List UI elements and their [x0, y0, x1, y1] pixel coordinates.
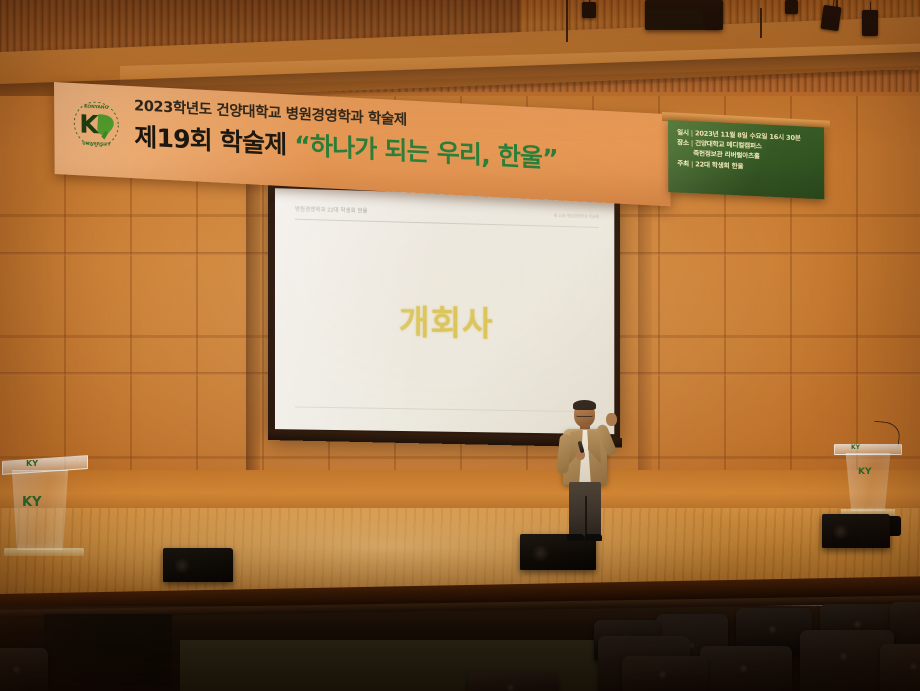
podium-left: KY KY — [2, 452, 94, 564]
audience-seat — [622, 656, 708, 691]
slide-header-right-text: 제 19회 병원경영학과 학술제 — [554, 213, 599, 220]
speaker-hair — [573, 400, 596, 410]
audience-seat — [468, 672, 558, 691]
speaker-glasses-icon — [576, 412, 593, 417]
info-sep: | — [691, 139, 693, 147]
svg-text:K: K — [79, 109, 100, 139]
event-info-banner: 일시|2023년 11월 8일 수요일 16시 30분 장소|건양대학교 메디컬… — [668, 120, 824, 199]
stage-back-wall-base — [0, 470, 920, 512]
banner-title-slogan: “하나가 되는 우리, 한울” — [294, 131, 558, 174]
info-label-date: 일시 — [677, 128, 689, 137]
slide-header-left-text: 병원경영학과 22대 학생회 한울 — [295, 205, 368, 215]
stage-monitor-speaker — [822, 514, 890, 548]
info-value-host: 22대 학생회 한울 — [695, 160, 743, 170]
audience-seat — [700, 646, 792, 691]
konyang-university-logo: KONYANG UNIVERSITY K — [68, 98, 124, 151]
monitor-driver — [173, 558, 191, 573]
podium-right-plate-logo: KY — [851, 445, 860, 451]
info-label-host: 주최 — [677, 159, 689, 168]
slide-divider-top — [295, 219, 599, 228]
av-equipment-case — [44, 614, 172, 686]
audience-seat — [0, 648, 48, 691]
banner-title-prefix: 제19회 학술제 — [134, 122, 294, 159]
stage-light-fixture — [706, 6, 720, 28]
podium-right-front-logo: KY — [858, 468, 872, 477]
speaker-leg-split — [585, 496, 587, 536]
info-sep: | — [691, 160, 693, 168]
stage-light-fixture — [862, 10, 878, 36]
podium-left-front-logo: KY — [22, 496, 42, 509]
auditorium-photo: 병원경영학과 22대 학생회 한울 제 19회 병원경영학과 학술제 개회사 K… — [0, 0, 920, 691]
wall-shadow-column — [246, 176, 260, 476]
speaker-shoe-left — [567, 534, 584, 541]
speaker-shoe-right — [585, 534, 602, 541]
stage-light-fixture — [785, 0, 798, 14]
speaker-hand-raised — [606, 413, 617, 426]
podium-left-base — [4, 548, 84, 556]
info-sep: | — [691, 129, 693, 137]
info-label-place: 장소 — [677, 139, 689, 148]
stage-light-fixture — [820, 5, 841, 31]
stage-monitor-speaker — [163, 548, 233, 582]
ceiling-cable — [566, 0, 568, 42]
podium-left-plate-logo: KY — [26, 460, 38, 468]
speaker-person — [545, 396, 645, 548]
audience-seat — [880, 644, 920, 691]
podium-left-body — [8, 470, 72, 550]
svg-text:UNIVERSITY: UNIVERSITY — [82, 140, 111, 147]
ceiling-cable — [760, 8, 762, 38]
stage-light-fixture — [582, 2, 596, 18]
house-floor — [180, 640, 640, 691]
monitor-driver — [832, 524, 850, 539]
slide-header: 병원경영학과 22대 학생회 한울 제 19회 병원경영학과 학술제 — [295, 205, 599, 221]
podium-right-body — [840, 453, 896, 511]
audience-seat — [890, 602, 920, 646]
slide-headline: 개회사 — [275, 292, 614, 348]
